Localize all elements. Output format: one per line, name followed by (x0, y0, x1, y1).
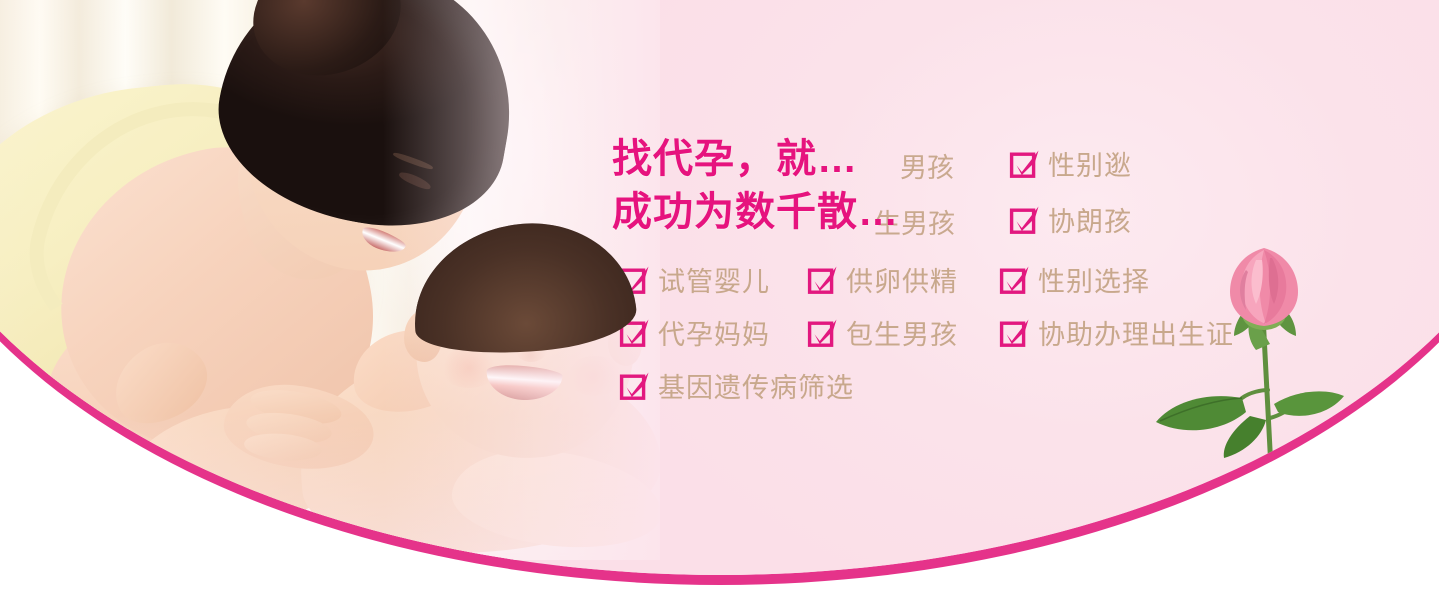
checkbox-checked-icon (620, 371, 649, 401)
service-label: 试管婴儿 (658, 260, 770, 299)
service-label: 性别选择 (1038, 260, 1150, 299)
service-label: 供卵供精 (846, 260, 958, 299)
service-item-guaranteed-boy[interactable]: 包生男孩 (808, 313, 958, 352)
service-label: 协助办理出生证 (1038, 313, 1234, 352)
headline: 找代孕，就… 成功为数千散… (612, 132, 1312, 240)
surrogacy-service-banner: 男孩 生男孩 性别逖 (0, 0, 1439, 600)
service-item-gender-selection[interactable]: 性别选择 (1000, 260, 1150, 299)
checkbox-checked-icon (808, 265, 837, 295)
hand-holding-pink-rose (1150, 240, 1380, 570)
service-item-surrogate-mother[interactable]: 代孕妈妈 (620, 313, 770, 352)
headline-line-2: 成功为数千散… (612, 185, 1312, 240)
checkbox-checked-icon (1000, 265, 1029, 295)
banner-stage: 男孩 生男孩 性别逖 (0, 0, 1439, 575)
service-item-ivf[interactable]: 试管婴儿 (620, 260, 770, 299)
baby-cheek-right (566, 356, 624, 396)
service-item-egg-sperm-donation[interactable]: 供卵供精 (808, 260, 958, 299)
banner-copy: 男孩 生男孩 性别逖 (612, 132, 1312, 240)
service-label: 包生男孩 (846, 313, 958, 352)
checkbox-checked-icon (1000, 318, 1029, 348)
service-item-row[interactable]: 供卵供精 (808, 260, 958, 299)
mother-and-baby-photo (0, 0, 660, 560)
service-item-genetic-screening[interactable]: 基因遗传病筛选 (620, 366, 854, 405)
service-item-row[interactable]: 包生男孩 (808, 313, 958, 352)
checkbox-checked-icon (808, 318, 837, 348)
headline-line-1: 找代孕，就… (612, 132, 1312, 187)
service-label: 代孕妈妈 (658, 313, 770, 352)
service-item-birth-certificate-assistance[interactable]: 协助办理出生证 (1000, 313, 1234, 352)
service-item-row[interactable]: 基因遗传病筛选 (620, 366, 854, 405)
service-item-row[interactable]: 协助办理出生证 (1000, 313, 1234, 352)
service-item-row[interactable]: 试管婴儿 (620, 260, 770, 299)
service-label: 基因遗传病筛选 (658, 366, 854, 405)
service-item-row[interactable]: 代孕妈妈 (620, 313, 770, 352)
service-item-row[interactable]: 性别选择 (1000, 260, 1150, 299)
rose-illustration (1150, 240, 1380, 570)
